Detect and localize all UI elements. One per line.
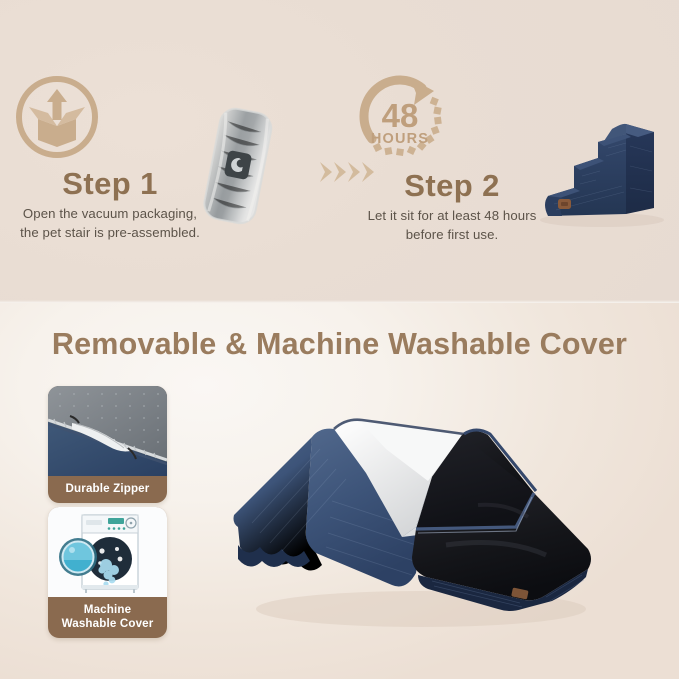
- badge-label-line-2: Washable Cover: [62, 617, 154, 630]
- navy-pet-stair-photo: [530, 96, 670, 231]
- product-infographic: Step 1 Open the vacuum packaging, the pe…: [0, 0, 679, 679]
- washable-cover-section: Removable & Machine Washable Cover: [0, 303, 679, 679]
- washing-machine-icon: [48, 507, 167, 597]
- badge-label-line-1: Machine: [84, 603, 131, 616]
- 48-hours-circular-arrow-icon: 48 HOURS: [352, 72, 552, 164]
- section-headline: Removable & Machine Washable Cover: [0, 327, 679, 362]
- step-1-description: Open the vacuum packaging, the pet stair…: [12, 204, 208, 242]
- zipper-closeup-photo: [48, 386, 167, 476]
- vacuum-sealed-pack-photo: [192, 104, 284, 226]
- pet-stair-cover-removal-photo: [216, 377, 616, 647]
- feature-badge-durable-zipper: Durable Zipper: [48, 386, 167, 503]
- open-box-circle-icon: [12, 72, 208, 162]
- step-2-description: Let it sit for at least 48 hours before …: [352, 206, 552, 244]
- feature-badge-machine-washable: Machine Washable Cover: [48, 507, 167, 638]
- step-1-block: Step 1 Open the vacuum packaging, the pe…: [12, 72, 208, 242]
- hours-number: 48: [382, 97, 419, 134]
- badge-label-machine-washable: Machine Washable Cover: [48, 597, 167, 638]
- setup-steps-section: Step 1 Open the vacuum packaging, the pe…: [0, 0, 679, 303]
- hours-unit: HOURS: [371, 131, 429, 147]
- step-2-title: Step 2: [352, 170, 552, 201]
- step-2-block: 48 HOURS Step 2 Let it sit for at least …: [352, 72, 552, 244]
- badge-label-durable-zipper: Durable Zipper: [48, 476, 167, 503]
- step-1-title: Step 1: [12, 168, 208, 199]
